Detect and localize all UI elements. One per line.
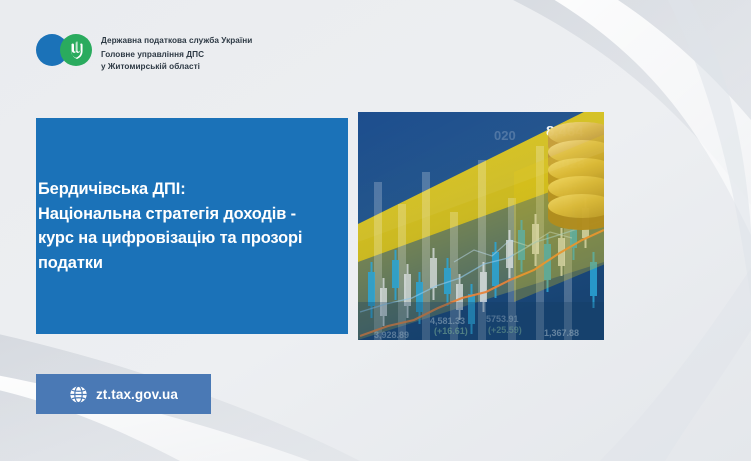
- organisation-logo-block: Державна податкова служба України Головн…: [36, 34, 252, 74]
- logo-green-circle-icon: [60, 34, 92, 66]
- website-url-text: zt.tax.gov.ua: [96, 387, 178, 402]
- organisation-name-text: Державна податкова служба України Головн…: [101, 34, 252, 74]
- page-title: Бердичівська ДПІ: Національна стратегія …: [36, 177, 302, 275]
- globe-icon: [69, 385, 88, 404]
- financial-chart-illustration: 8,464 8,028 1,77 020 4,581.33 (+16.61) 5…: [358, 112, 604, 340]
- ukrainian-trident-emblem-icon: [68, 40, 85, 61]
- slide-canvas: Державна податкова служба України Головн…: [0, 0, 751, 461]
- org-line-2: Головне управління ДПС: [101, 49, 252, 61]
- website-url-badge[interactable]: zt.tax.gov.ua: [36, 374, 211, 414]
- title-panel: Бердичівська ДПІ: Національна стратегія …: [36, 118, 348, 334]
- logo-marks: [36, 34, 92, 66]
- org-line-3: у Житомирській області: [101, 61, 252, 73]
- hero-image: 8,464 8,028 1,77 020 4,581.33 (+16.61) 5…: [358, 112, 604, 340]
- org-line-1: Державна податкова служба України: [101, 35, 252, 47]
